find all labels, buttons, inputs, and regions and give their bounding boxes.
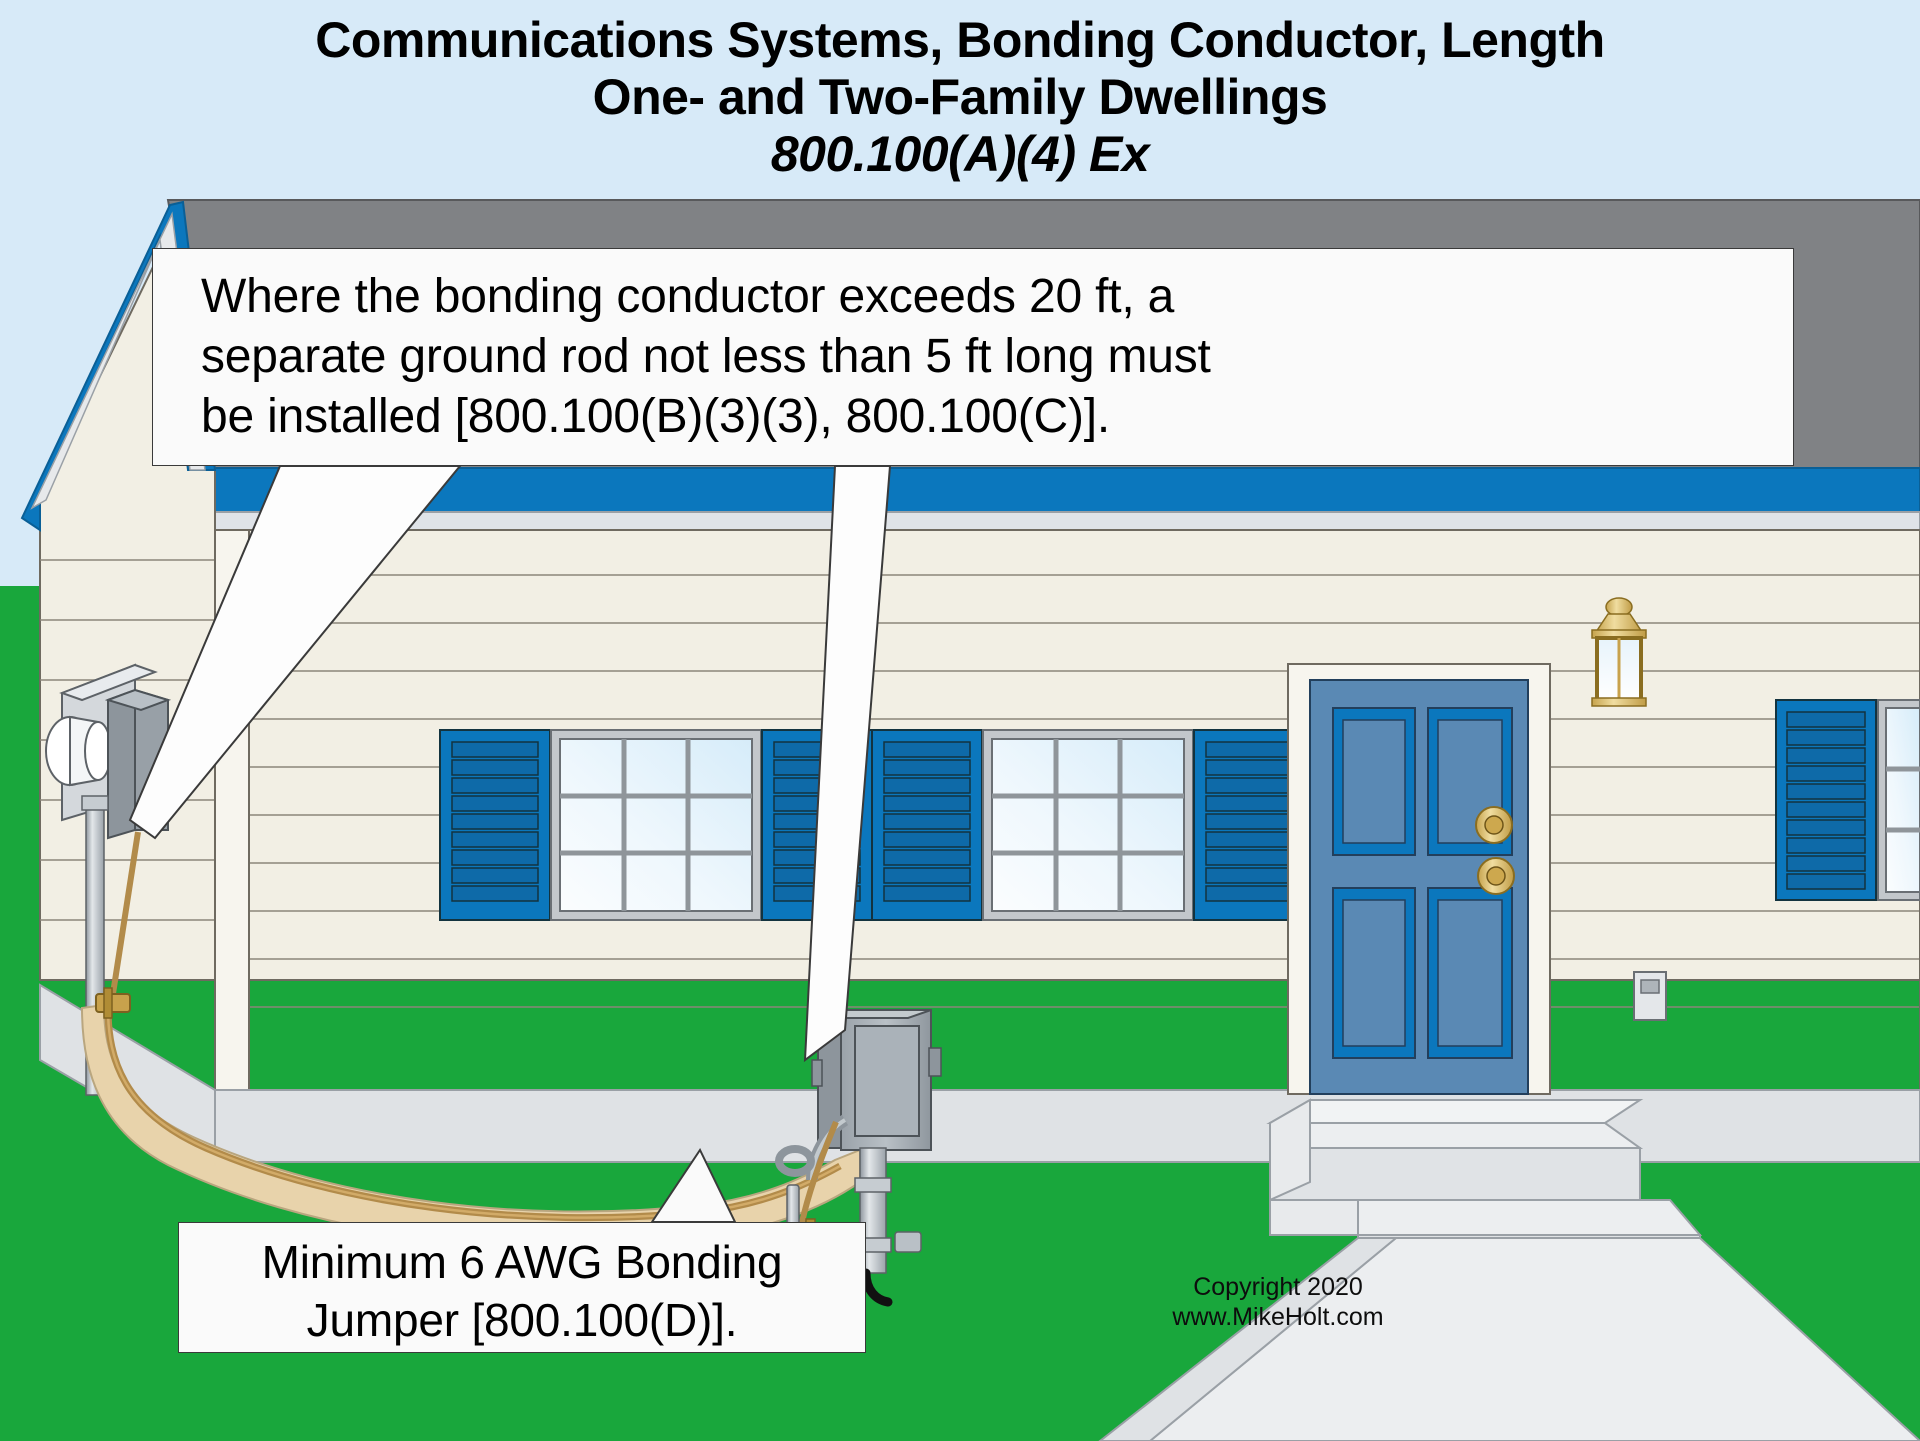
step-lower-tread bbox=[1358, 1200, 1700, 1235]
callout-bottom-line-2: Jumper [800.100(D)]. bbox=[193, 1291, 851, 1349]
step-upper-riser bbox=[1270, 1148, 1640, 1200]
nid-latch[interactable] bbox=[929, 1048, 941, 1076]
shutter-louvers bbox=[452, 742, 538, 901]
callout-main-line-3: be installed [800.100(B)(3)(3), 800.100(… bbox=[201, 387, 1767, 447]
copyright-line-2: www.MikeHolt.com bbox=[1148, 1302, 1408, 1332]
copyright-line-1: Copyright 2020 bbox=[1148, 1272, 1408, 1302]
callout-bonding-jumper: Minimum 6 AWG Bonding Jumper [800.100(D)… bbox=[178, 1222, 866, 1353]
front-door[interactable] bbox=[1288, 664, 1550, 1094]
shutter-louvers bbox=[884, 742, 970, 901]
foundation bbox=[215, 1090, 1920, 1162]
window-glass bbox=[1886, 708, 1920, 892]
window-center bbox=[872, 730, 1304, 920]
title-line-1: Communications Systems, Bonding Conducto… bbox=[315, 12, 1604, 69]
stoop-top bbox=[1270, 1100, 1640, 1123]
callout-main-line-2: separate ground rod not less than 5 ft l… bbox=[201, 327, 1767, 387]
title-code-reference: 800.100(A)(4) Ex bbox=[771, 126, 1149, 183]
riser-coupling bbox=[82, 796, 108, 810]
nid-cover bbox=[855, 1026, 919, 1136]
page-title: Communications Systems, Bonding Conducto… bbox=[0, 0, 1920, 195]
callout-bottom-line-1: Minimum 6 AWG Bonding bbox=[193, 1233, 851, 1291]
mast-strap bbox=[895, 1232, 921, 1252]
window-glass bbox=[560, 739, 752, 911]
mast-coupling-upper bbox=[855, 1178, 891, 1192]
shutter-louvers bbox=[1206, 742, 1292, 901]
door-deadbolt[interactable] bbox=[1476, 807, 1512, 843]
doorbell-chime[interactable] bbox=[1634, 972, 1666, 1020]
step-upper-tread bbox=[1270, 1123, 1640, 1148]
door-lockset[interactable] bbox=[1478, 858, 1514, 894]
window-left bbox=[440, 730, 872, 920]
roof-fascia-trim bbox=[215, 468, 1920, 516]
callout-main-line-1: Where the bonding conductor exceeds 20 f… bbox=[201, 267, 1767, 327]
window-right bbox=[1776, 700, 1920, 900]
step-side bbox=[1270, 1200, 1358, 1235]
callout-main: Where the bonding conductor exceeds 20 f… bbox=[152, 248, 1794, 466]
nid-hinge bbox=[812, 1060, 822, 1086]
illustration-canvas: Communications Systems, Bonding Conducto… bbox=[0, 0, 1920, 1441]
copyright-notice: Copyright 2020 www.MikeHolt.com bbox=[1148, 1272, 1408, 1332]
lantern-bottom-plate bbox=[1592, 698, 1646, 706]
title-line-2: One- and Two-Family Dwellings bbox=[593, 69, 1328, 126]
window-glass bbox=[992, 739, 1184, 911]
